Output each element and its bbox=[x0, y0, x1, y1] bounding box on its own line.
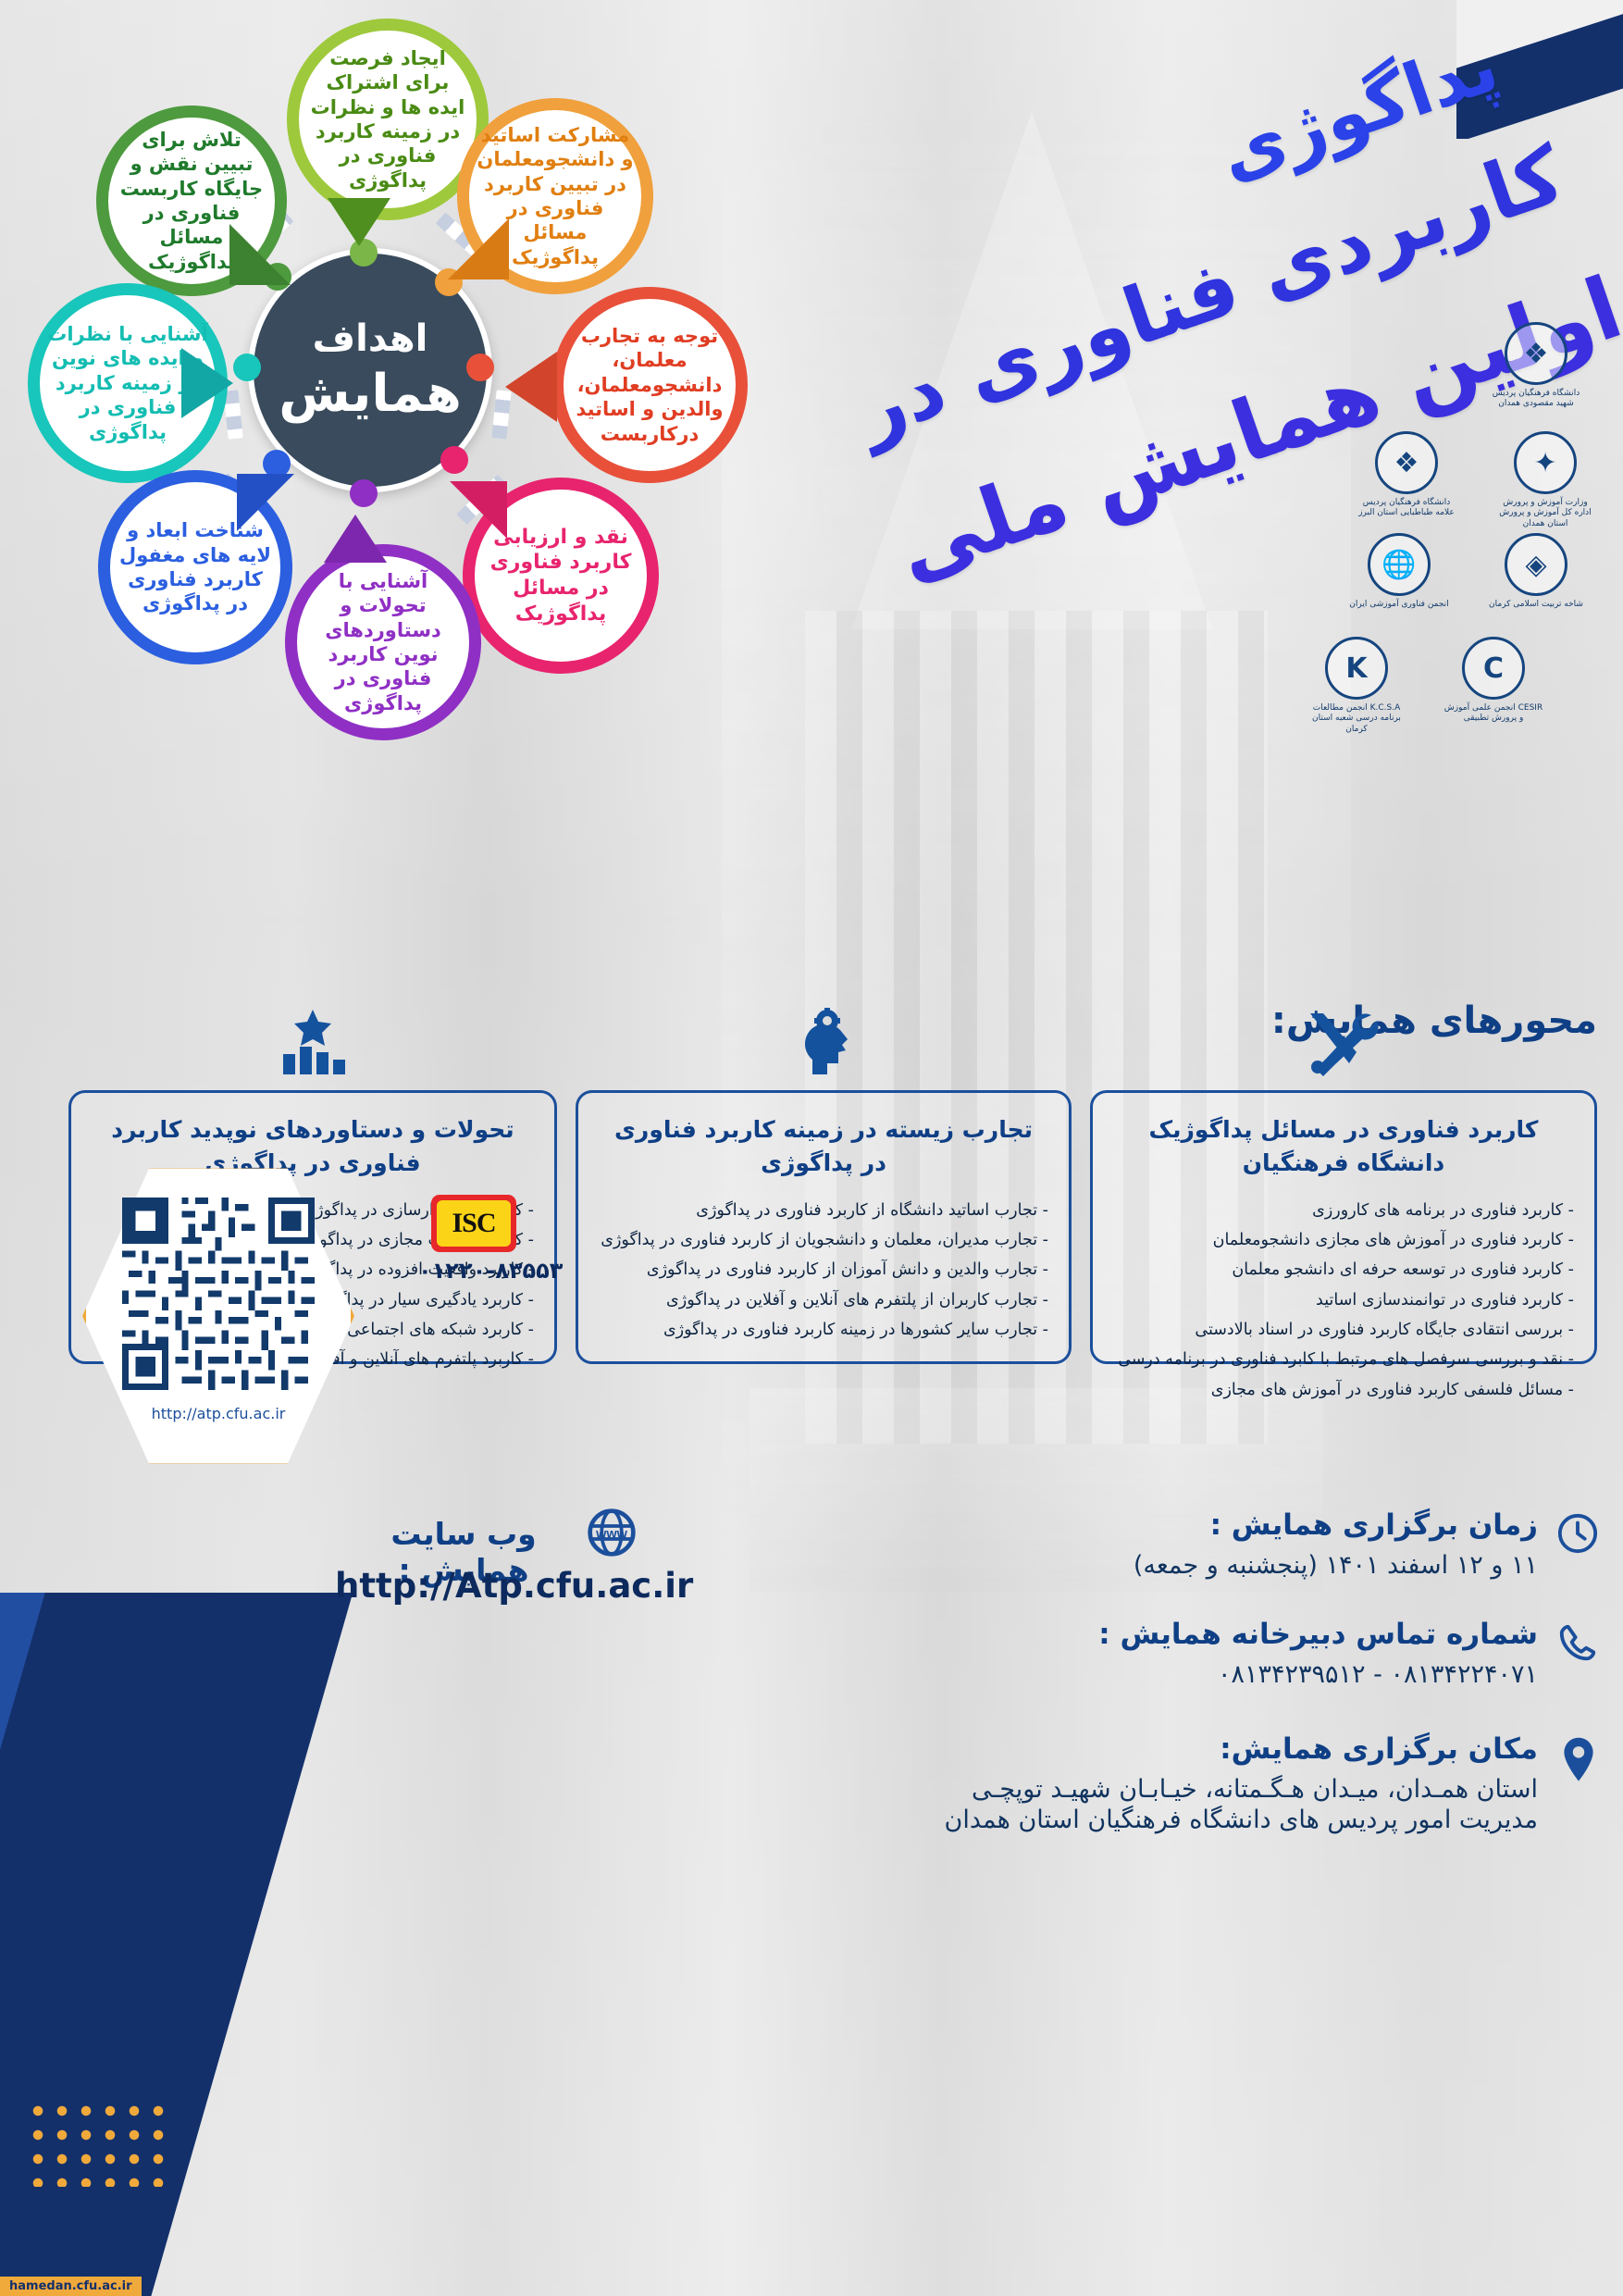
sponsor-logo: 🌐 انجمن فناوری آموزشی ایران bbox=[1347, 533, 1451, 610]
sponsor-caption: CESIR انجمن علمی آموزش و پرورش تطبیقی bbox=[1442, 703, 1545, 725]
sponsor-logo: ❖ دانشگاه فرهنگیان پردیس شهید مقصودی همد… bbox=[1484, 322, 1588, 410]
event-date-value: ۱۱ و ۱۲ اسفند ۱۴۰۱ (پنجشنبه و جمعه) bbox=[1134, 1551, 1538, 1580]
globe-seal-icon: 🌐 bbox=[1368, 533, 1431, 596]
place-label: مکان برگزاری همایش: bbox=[945, 1732, 1538, 1766]
goal-tail-0 bbox=[328, 198, 390, 246]
society-seal-icon: ◈ bbox=[1505, 533, 1567, 596]
isc-code: ۰۱۲۲۰-۸۳۵۵۳ bbox=[418, 1258, 563, 1284]
phone-label: شماره تماس دبیرخانه همایش : bbox=[1098, 1618, 1538, 1651]
axis-card-item: - تجارب مدیران، معلمان و دانشجویان از کا… bbox=[599, 1225, 1048, 1255]
axis-card-1: تجارب زیسته در زمینه کاربرد فناوری در پد… bbox=[576, 1090, 1072, 1364]
goal-text: شناخت ابعاد و لایه های مغفول کاربرد فناو… bbox=[110, 518, 280, 616]
goal-tail-4 bbox=[181, 348, 233, 418]
sponsor-caption: دانشگاه فرهنگیان پردیس شهید مقصودی همدان bbox=[1484, 389, 1588, 410]
head-gear-icon bbox=[785, 1008, 862, 1082]
dot-pattern-decoration bbox=[26, 2099, 165, 2187]
bar-chart-star-icon bbox=[274, 1008, 352, 1076]
footer-site-tag: hamedan.cfu.ac.ir bbox=[0, 2277, 142, 2296]
university-seal-icon: ❖ bbox=[1505, 322, 1567, 385]
phone-icon bbox=[1556, 1621, 1599, 1664]
svg-text:www: www bbox=[595, 1527, 627, 1542]
phone-value: ۰۸۱۳۴۲۲۴۰۷۱ - ۰۸۱۳۴۲۳۹۵۱۲ bbox=[1098, 1660, 1538, 1689]
sponsor-logo: K K.C.S.A انجمن مطالعات برنامه درسی شعبه… bbox=[1305, 637, 1408, 735]
ministry-seal-icon: ✦ bbox=[1514, 431, 1577, 494]
goal-node-7 bbox=[350, 479, 378, 507]
axis-card-title: کاربرد فناوری در مسائل پداگوژیک دانشگاه … bbox=[1113, 1113, 1574, 1181]
sponsor-caption: دانشگاه فرهنگیان پردیس علامه طباطبایی اس… bbox=[1355, 498, 1458, 519]
goal-node-5 bbox=[440, 446, 468, 474]
sponsor-caption: K.C.S.A انجمن مطالعات برنامه درسی شعبه ا… bbox=[1305, 703, 1408, 735]
sponsor-logo: ❖ دانشگاه فرهنگیان پردیس علامه طباطبایی … bbox=[1355, 431, 1458, 519]
goal-node-4 bbox=[233, 354, 261, 381]
sponsor-caption: وزارت آموزش و پرورش اداره کل آموزش و پرو… bbox=[1493, 498, 1597, 529]
axis-card-item: - مسائل فلسفی کاربرد فناوری در آموزش های… bbox=[1113, 1375, 1574, 1405]
axis-card-item: - تجارب اساتید دانشگاه از کاربرد فناوری … bbox=[599, 1196, 1048, 1225]
goal-tail-7 bbox=[324, 515, 387, 563]
secretariat-phone-block: شماره تماس دبیرخانه همایش : ۰۸۱۳۴۲۲۴۰۷۱ … bbox=[1098, 1618, 1538, 1689]
place-value-line-1: استان همـدان، میـدان هـگـمتانه، خیـابـان… bbox=[945, 1775, 1538, 1804]
axis-card-item: - تجارب سایر کشورها در زمینه کاربرد فناو… bbox=[599, 1315, 1048, 1345]
goal-bubble-3: توجه به تجارب معلمان، دانشجومعلمان، والد… bbox=[551, 287, 748, 483]
kcsa-seal-icon: K bbox=[1325, 637, 1388, 700]
axis-card-list: - تجارب اساتید دانشگاه از کاربرد فناوری … bbox=[599, 1196, 1048, 1346]
sponsor-logos: ❖ دانشگاه فرهنگیان پردیس شهید مقصودی همد… bbox=[1190, 322, 1606, 711]
isc-label: ISC bbox=[437, 1200, 511, 1247]
goal-text: توجه به تجارب معلمان، دانشجومعلمان، والد… bbox=[564, 324, 736, 446]
axis-card-item: - تجارب کاربران از پلتفرم های آنلاین و آ… bbox=[599, 1285, 1048, 1315]
sponsor-logo: ◈ شاخه تربیت اسلامی کرمان bbox=[1484, 533, 1588, 610]
sponsor-logo: ✦ وزارت آموزش و پرورش اداره کل آموزش و پ… bbox=[1493, 431, 1597, 529]
goal-text: آشنایی با تحولات و دستاوردهای نوین کاربر… bbox=[297, 569, 469, 716]
axis-card-item: - کاربرد فناوری در آموزش های مجازی دانشج… bbox=[1113, 1225, 1574, 1255]
axis-card-item: - کاربرد فناوری در توانمندسازی اساتید bbox=[1113, 1285, 1574, 1315]
goal-node-6 bbox=[263, 450, 291, 478]
website-url[interactable]: http://Atp.cfu.ac.ir bbox=[335, 1566, 603, 1606]
place-value-line-2: مدیریت امور پردیس های دانشگاه فرهنگیان ا… bbox=[945, 1806, 1538, 1834]
qr-code-block[interactable]: http://atp.cfu.ac.ir bbox=[80, 1162, 357, 1470]
goal-bubble-7: آشنایی با تحولات و دستاوردهای نوین کاربر… bbox=[285, 544, 481, 740]
wrench-screwdriver-icon bbox=[1301, 1008, 1386, 1078]
axis-card-title: تجارب زیسته در زمینه کاربرد فناوری در پد… bbox=[599, 1113, 1048, 1181]
university-seal-icon: ❖ bbox=[1375, 431, 1438, 494]
event-place-block: مکان برگزاری همایش: استان همـدان، میـدان… bbox=[945, 1732, 1538, 1834]
qr-caption: http://atp.cfu.ac.ir bbox=[80, 1405, 357, 1422]
cesir-seal-icon: C bbox=[1462, 637, 1525, 700]
goals-center-line-2: همایش bbox=[279, 364, 462, 424]
axis-card-item: - نقد و بررسی سرفصل های مرتبط با کابرد ف… bbox=[1113, 1345, 1574, 1374]
sponsor-caption: شاخه تربیت اسلامی کرمان bbox=[1484, 600, 1588, 610]
axis-card-item: - کاربرد فناوری در برنامه های کارورزی bbox=[1113, 1196, 1574, 1225]
event-date-block: زمان برگزاری همایش : ۱۱ و ۱۲ اسفند ۱۴۰۱ … bbox=[1134, 1508, 1538, 1580]
qr-code-image bbox=[122, 1198, 315, 1390]
goal-text: نقد و ارزیابی کاربرد فناوری در مسائل پدا… bbox=[475, 525, 647, 627]
goals-center-line-1: اهداف bbox=[313, 317, 428, 360]
globe-www-icon: www bbox=[586, 1507, 638, 1558]
event-date-label: زمان برگزاری همایش : bbox=[1134, 1508, 1538, 1542]
axis-card-item: - کاربرد فناوری در توسعه حرفه ای دانشجو … bbox=[1113, 1255, 1574, 1285]
axis-card-list: - کاربرد فناوری در برنامه های کارورزی - … bbox=[1113, 1196, 1574, 1406]
clock-icon bbox=[1556, 1512, 1599, 1555]
goal-text: ایجاد فرصت برای اشتراک ایده ها و نظرات د… bbox=[299, 46, 477, 193]
goal-node-3 bbox=[466, 354, 494, 381]
axis-card-item: - بررسی انتقادی جایگاه کاربرد فناوری در … bbox=[1113, 1315, 1574, 1345]
goal-tail-3 bbox=[505, 352, 557, 422]
location-pin-icon bbox=[1558, 1736, 1599, 1784]
isc-badge: ISC bbox=[431, 1195, 516, 1252]
sponsor-logo: C CESIR انجمن علمی آموزش و پرورش تطبیقی bbox=[1442, 637, 1545, 725]
corner-decoration-bottom-left bbox=[0, 1593, 389, 2296]
sponsor-caption: انجمن فناوری آموزشی ایران bbox=[1347, 600, 1451, 610]
axis-card-item: - تجارب والدین و دانش آموزان از کاربرد ف… bbox=[599, 1255, 1048, 1285]
axis-card-0: کاربرد فناوری در مسائل پداگوژیک دانشگاه … bbox=[1090, 1090, 1597, 1364]
